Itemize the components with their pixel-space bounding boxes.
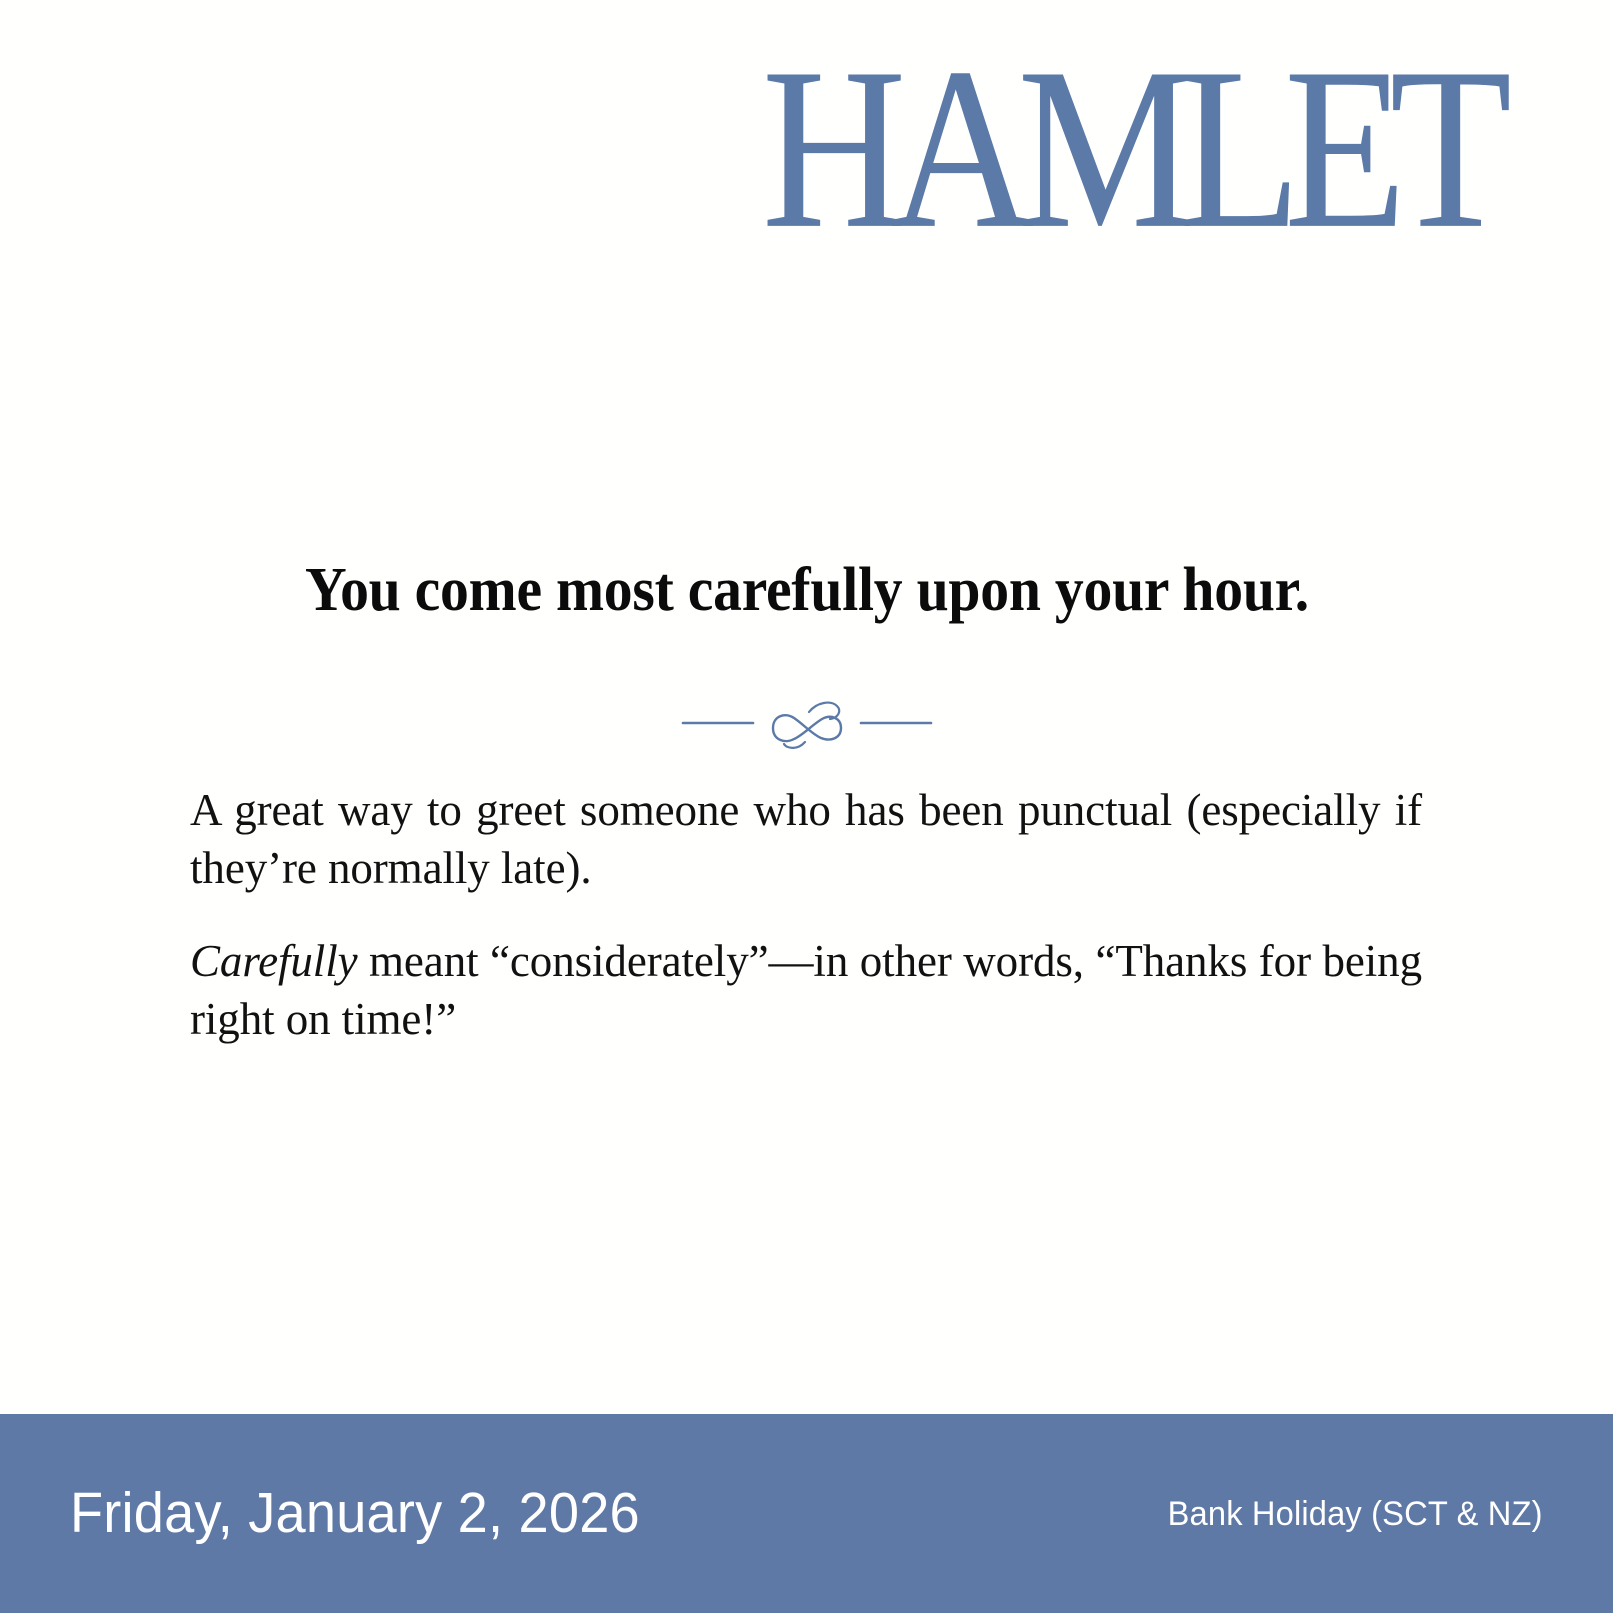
quote-text: You come most carefully upon your hour. — [230, 556, 1383, 625]
quote-block: You come most carefully upon your hour. — [0, 556, 1613, 625]
footer-date: Friday, January 2, 2026 — [70, 1485, 640, 1542]
body-paragraph-1: A great way to greet someone who has bee… — [190, 782, 1422, 897]
term-carefully: Carefully — [190, 936, 358, 986]
poster-page: HAMLET You come most carefully upon your… — [0, 0, 1613, 1613]
show-title: HAMLET — [762, 34, 1495, 265]
infinity-flourish-ornament — [681, 692, 933, 750]
body-paragraph-2: Carefully meant “considerately”—in other… — [190, 933, 1422, 1048]
masthead: HAMLET — [0, 0, 1613, 300]
footer-note: Bank Holiday (SCT & NZ) — [1168, 1497, 1543, 1531]
ornament-divider — [0, 692, 1613, 750]
body-copy: A great way to greet someone who has bee… — [190, 782, 1422, 1048]
footer-bar: Friday, January 2, 2026 Bank Holiday (SC… — [0, 1414, 1613, 1613]
body-paragraph-2-rest: meant “considerately”—in other words, “T… — [190, 936, 1422, 1044]
